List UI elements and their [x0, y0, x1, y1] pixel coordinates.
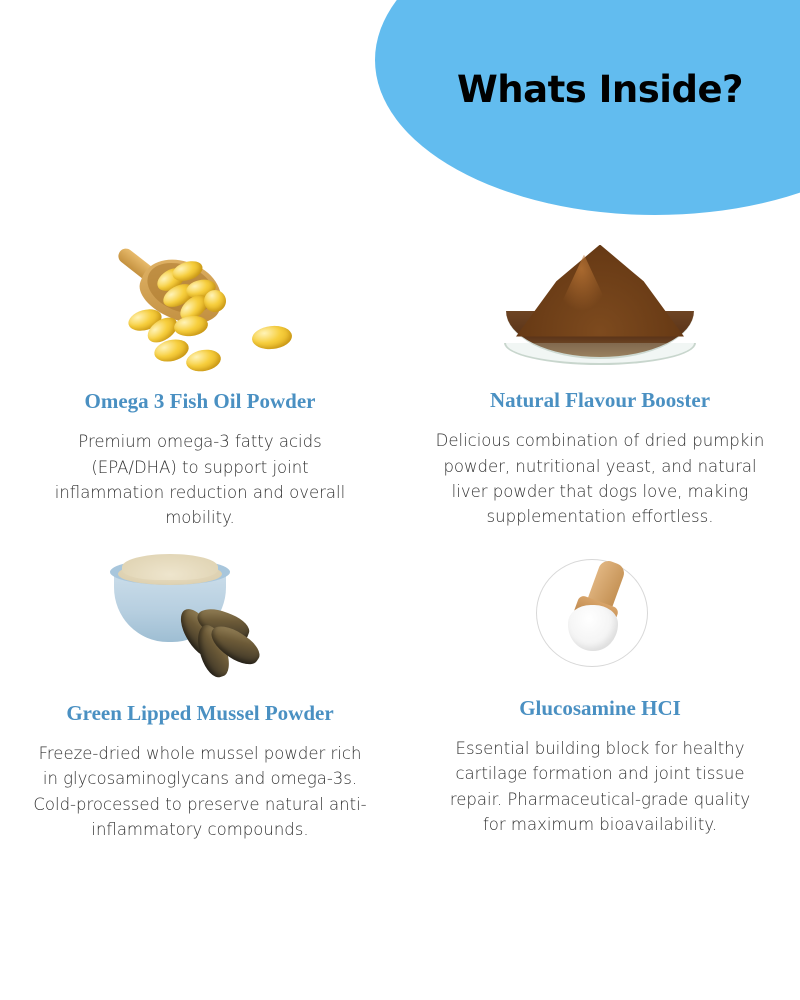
- natural-flavour-booster-image: [480, 229, 720, 374]
- capsule-shape: [184, 347, 222, 374]
- ingredient-title: Green Lipped Mussel Powder: [66, 701, 333, 725]
- ingredient-title: Glucosamine HCI: [519, 696, 681, 720]
- omega-3-fish-oil-powder-image: [80, 229, 320, 379]
- ingredient-description: Freeze-dried whole mussel powder rich in…: [30, 741, 370, 843]
- brown-powder-dish-icon: [500, 237, 700, 367]
- fish-oil-capsules-icon: [100, 234, 300, 374]
- glucosamine-hci-image: [480, 541, 720, 686]
- ingredient-card-natural-flavour-booster: Natural Flavour Booster Delicious combin…: [400, 215, 800, 531]
- ingredient-card-glucosamine-hci: Glucosamine HCI Essential building block…: [400, 531, 800, 843]
- header-banner: Whats Inside?: [0, 0, 800, 215]
- ingredient-title: Omega 3 Fish Oil Powder: [85, 389, 316, 413]
- ingredient-description: Delicious combination of dried pumpkin p…: [435, 428, 765, 530]
- ingredient-card-omega-3-fish-oil-powder: Omega 3 Fish Oil Powder Premium omega-3 …: [0, 215, 400, 531]
- ingredient-title: Natural Flavour Booster: [490, 388, 710, 412]
- ingredient-grid: Omega 3 Fish Oil Powder Premium omega-3 …: [0, 215, 800, 843]
- glass-dish-rim: [504, 343, 696, 365]
- ingredient-description: Premium omega-3 fatty acids (EPA/DHA) to…: [35, 429, 365, 531]
- green-lipped-mussel-powder-image: [80, 541, 320, 691]
- capsule-shape: [251, 324, 293, 351]
- bowl-powder-heap: [122, 554, 218, 580]
- mussel-bowl-icon: [100, 546, 300, 686]
- ingredient-card-green-lipped-mussel-powder: Green Lipped Mussel Powder Freeze-dried …: [0, 531, 400, 843]
- powder-scoop-icon: [530, 553, 670, 673]
- ingredient-description: Essential building block for healthy car…: [440, 736, 760, 838]
- page-title: Whats Inside?: [400, 68, 800, 112]
